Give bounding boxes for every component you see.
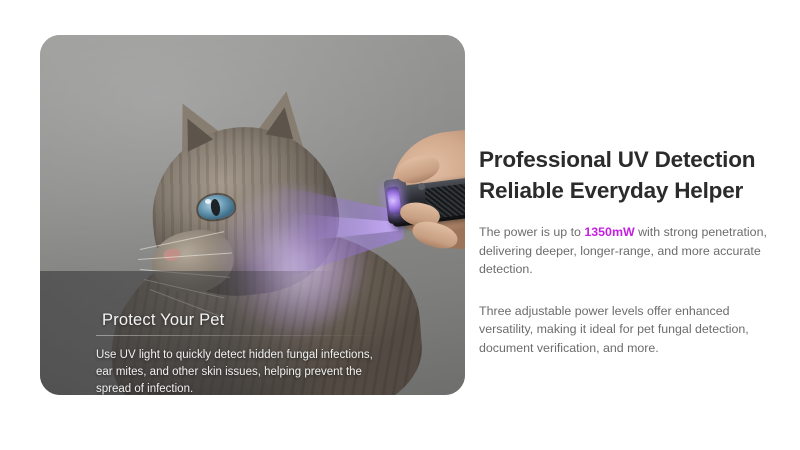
headline-line-1: Professional UV Detection [479,147,755,172]
product-feature-page: Protect Your Pet Use UV light to quickly… [0,0,800,450]
paragraph-power: The power is up to 1350mW with strong pe… [479,223,779,279]
photo-overlay-description: Use UV light to quickly detect hidden fu… [96,347,392,395]
power-rating-highlight: 1350mW [584,225,634,239]
product-photo-card: Protect Your Pet Use UV light to quickly… [40,35,465,395]
copy-column: Professional UV Detection Reliable Every… [479,144,779,357]
cat-eye-glint [205,199,211,204]
headline-line-2: Reliable Everyday Helper [479,178,743,203]
cat-ear-inner-right [266,105,299,139]
photo-overlay-divider [96,335,386,336]
page-headline: Professional UV Detection Reliable Every… [479,144,779,206]
paragraph-power-levels: Three adjustable power levels offer enha… [479,302,779,358]
photo-overlay-title: Protect Your Pet [102,311,224,330]
paragraph-power-before: The power is up to [479,225,584,239]
